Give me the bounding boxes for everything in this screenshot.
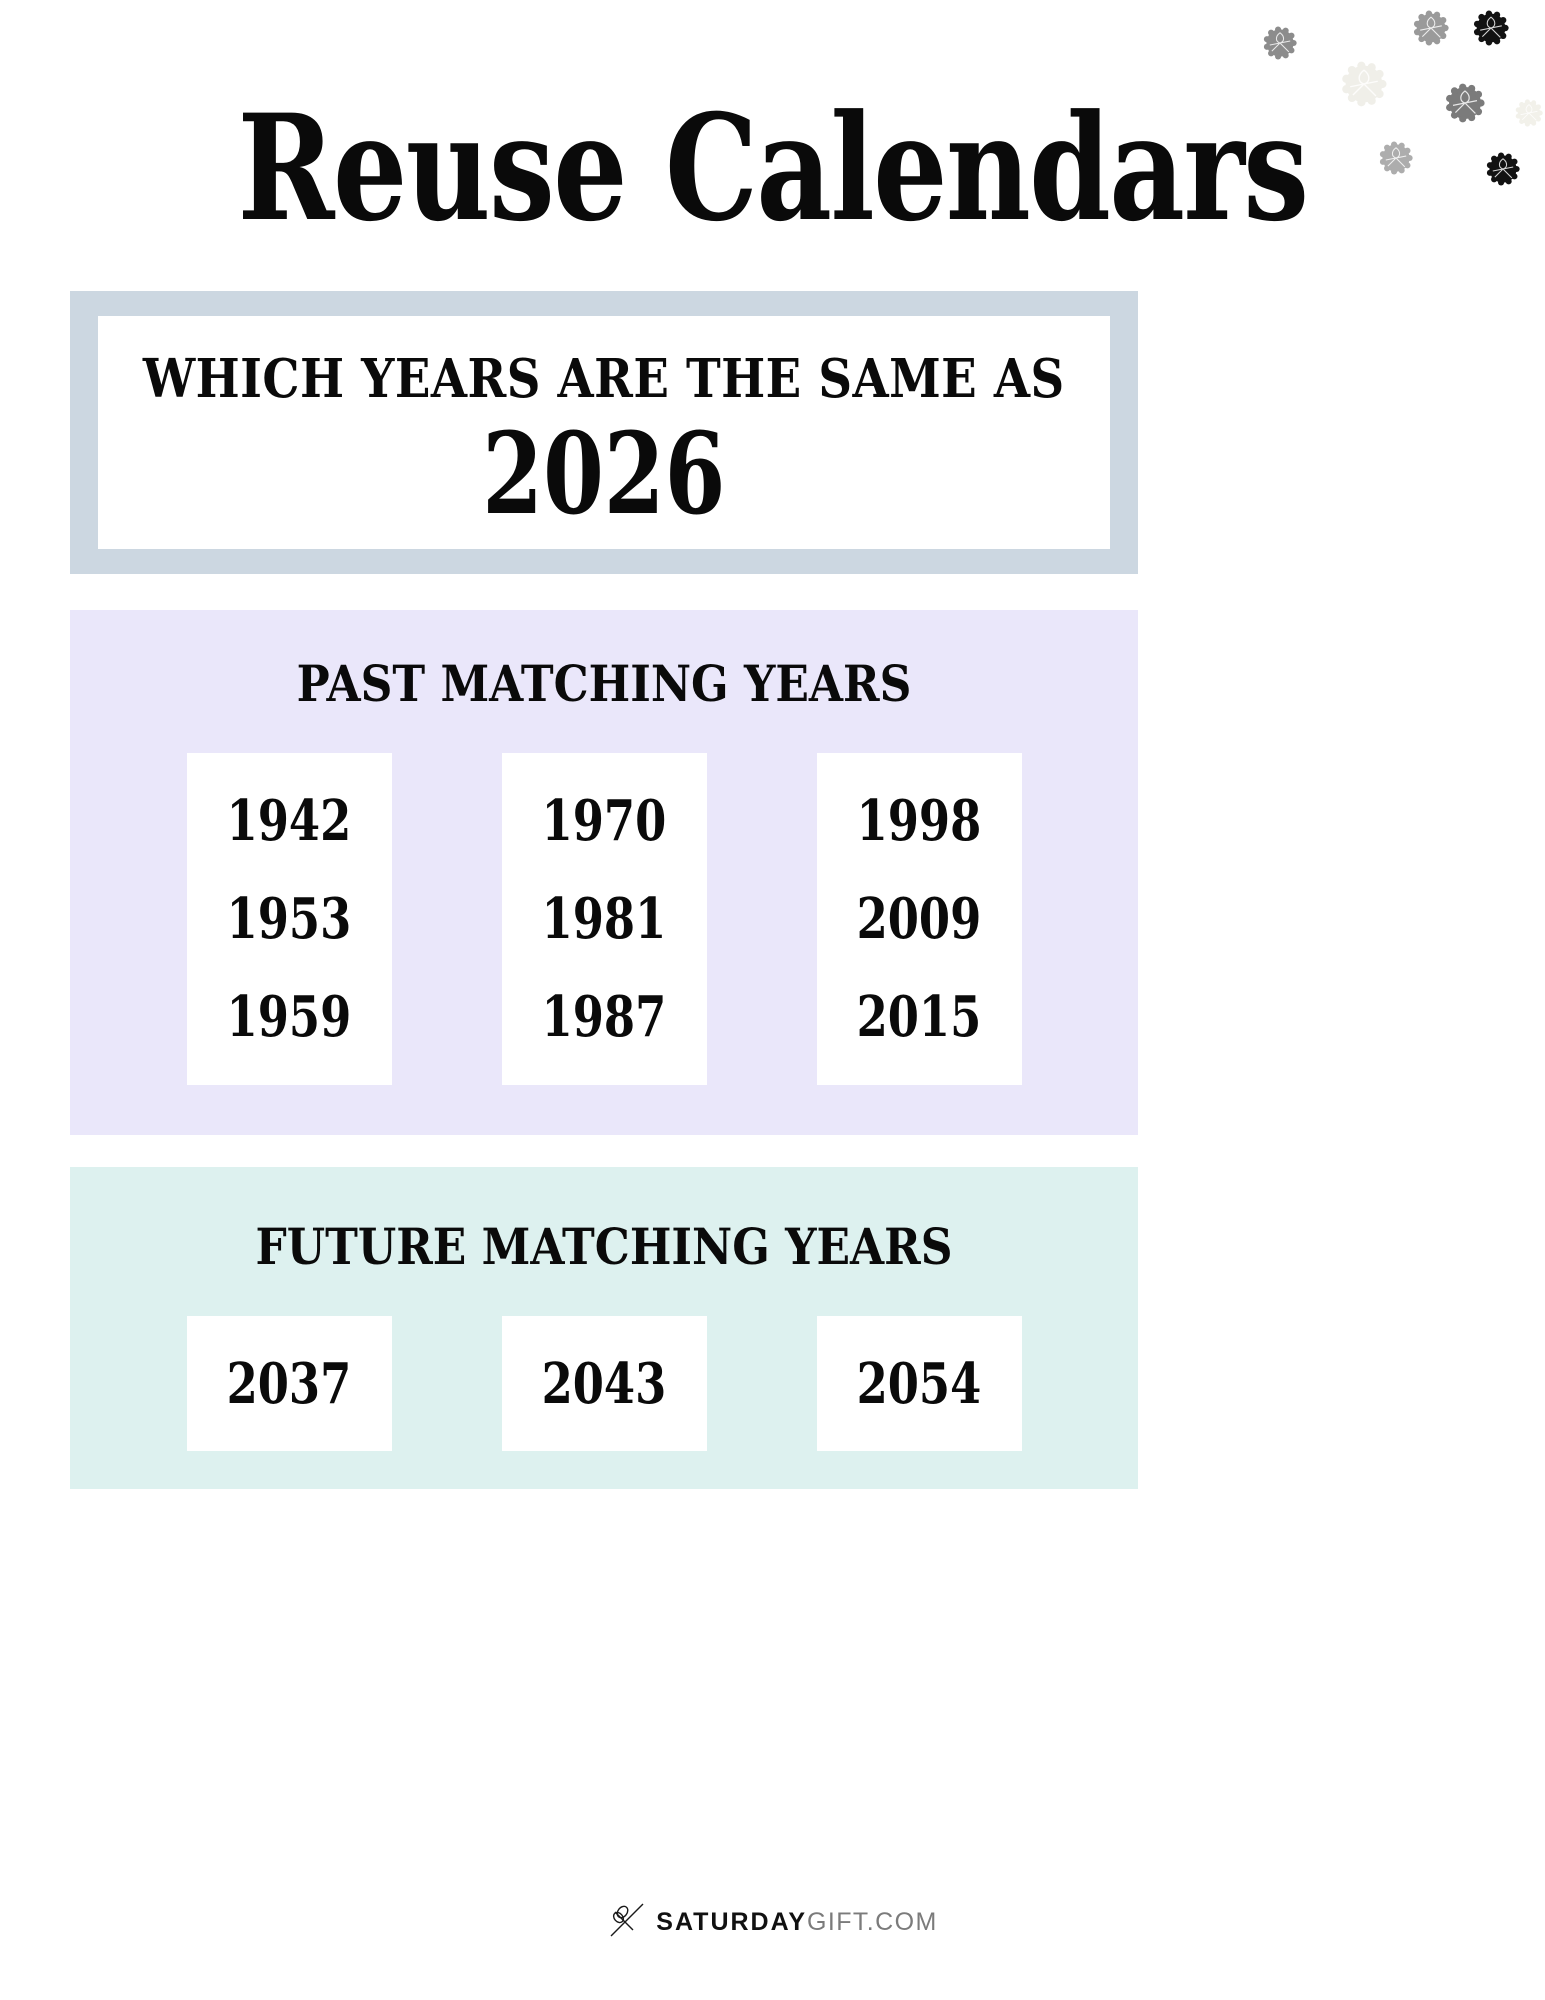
brand-wordmark: SATURDAYGIFT.COM (656, 1910, 937, 1935)
past-year-card: 194219531959 (187, 753, 392, 1085)
future-year-value: 2037 (227, 1356, 352, 1412)
past-year-value: 2015 (857, 989, 982, 1045)
future-year-columns: 203720432054 (70, 1316, 1138, 1451)
past-year-value: 1998 (857, 793, 982, 849)
past-section-title: PAST MATCHING YEARS (134, 610, 1074, 713)
scissors-icon (607, 1900, 647, 1945)
past-year-value: 1953 (227, 891, 352, 947)
headline-inner: WHICH YEARS ARE THE SAME AS 2026 (98, 316, 1110, 549)
brand-name-light: GIFT.COM (807, 1908, 938, 1936)
printable-page: Reuse Calendars WHICH YEARS ARE THE SAME… (0, 0, 1545, 2000)
future-section-title: FUTURE MATCHING YEARS (134, 1167, 1074, 1276)
future-matching-years-section: FUTURE MATCHING YEARS 203720432054 (70, 1167, 1138, 1489)
page-title: Reuse Calendars (155, 96, 1391, 242)
past-year-value: 1970 (542, 793, 667, 849)
headline-question: WHICH YEARS ARE THE SAME AS (143, 348, 1065, 410)
brand-name-bold: SATURDAY (656, 1908, 807, 1936)
future-year-value: 2054 (857, 1356, 982, 1412)
past-year-value: 1981 (542, 891, 667, 947)
past-year-columns: 194219531959197019811987199820092015 (70, 753, 1138, 1085)
headline-frame: WHICH YEARS ARE THE SAME AS 2026 (70, 291, 1138, 574)
future-year-value: 2043 (542, 1356, 667, 1412)
future-year-card: 2037 (187, 1316, 392, 1451)
footer-branding: SATURDAYGIFT.COM (0, 1900, 1545, 1945)
past-matching-years-section: PAST MATCHING YEARS 19421953195919701981… (70, 610, 1138, 1135)
confetti-dot-1 (1263, 26, 1297, 65)
past-year-card: 197019811987 (502, 753, 707, 1085)
past-year-value: 1942 (227, 793, 352, 849)
past-year-card: 199820092015 (817, 753, 1022, 1085)
future-year-card: 2054 (817, 1316, 1022, 1451)
past-year-value: 1987 (542, 989, 667, 1045)
future-year-card: 2043 (502, 1316, 707, 1451)
past-year-value: 1959 (227, 989, 352, 1045)
confetti-dot-2 (1413, 10, 1449, 51)
headline-year: 2026 (482, 416, 725, 534)
confetti-dot-3 (1473, 10, 1509, 51)
past-year-value: 2009 (857, 891, 982, 947)
page-title-wrap: Reuse Calendars (0, 96, 1545, 242)
